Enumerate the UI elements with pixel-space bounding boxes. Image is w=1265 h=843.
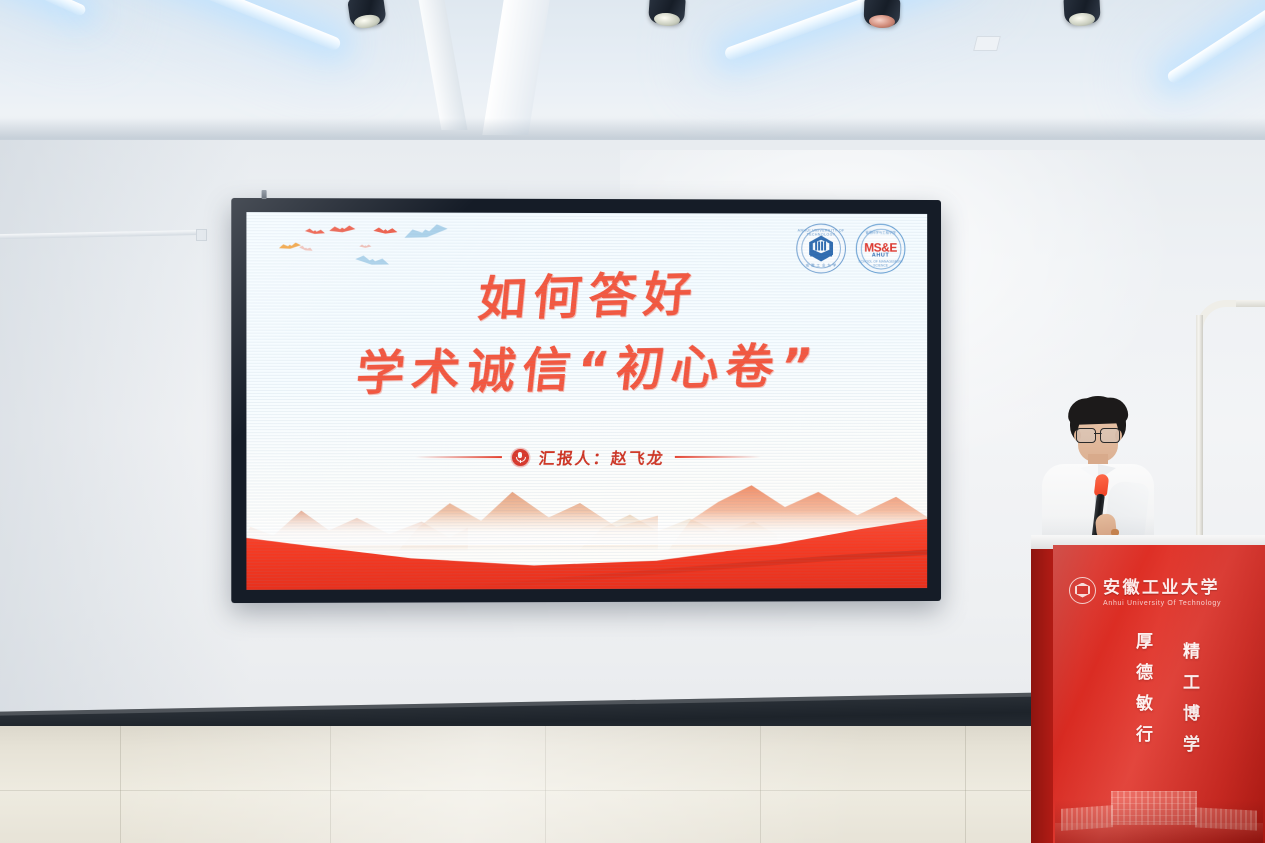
eyeglasses-icon: [1075, 428, 1121, 441]
led-tube-light: [0, 0, 87, 17]
spotlight-lens: [869, 15, 895, 29]
ceiling-beam: [482, 0, 549, 135]
wall-pipe: [1196, 315, 1203, 560]
track-spotlight: [345, 0, 389, 36]
ceiling-beam: [419, 0, 468, 130]
podium-side-panel: [1031, 543, 1055, 843]
wall-pipe-top: [1236, 300, 1265, 307]
track-spotlight: [1060, 0, 1104, 34]
led-presentation-screen[interactable]: ANHUI UNIVERSITY OF TECHNOLOGY 安 徽 工 业 大…: [231, 198, 941, 603]
ceiling-vent: [973, 36, 1001, 51]
hair-fringe: [1068, 397, 1129, 425]
spotlight-lens: [1069, 12, 1096, 26]
wall-shading: [0, 140, 250, 720]
led-tube-light: [723, 0, 962, 61]
track-spotlight: [645, 0, 689, 34]
podium-sheen: [1053, 545, 1265, 843]
led-tube-light: [1166, 0, 1265, 85]
eyeglass-lens: [1100, 428, 1120, 443]
lecture-hall-scene: ANHUI UNIVERSITY OF TECHNOLOGY 安 徽 工 业 大…: [0, 0, 1265, 843]
led-tube-light: [124, 0, 342, 52]
track-spotlight: [860, 0, 904, 36]
wall-conduit-cap: [196, 229, 207, 241]
eyeglass-lens: [1076, 428, 1096, 443]
screen-bezel-highlight: [231, 198, 941, 603]
lectern-podium: 安徽工业大学 Anhui University Of Technology 精 …: [1023, 535, 1265, 843]
